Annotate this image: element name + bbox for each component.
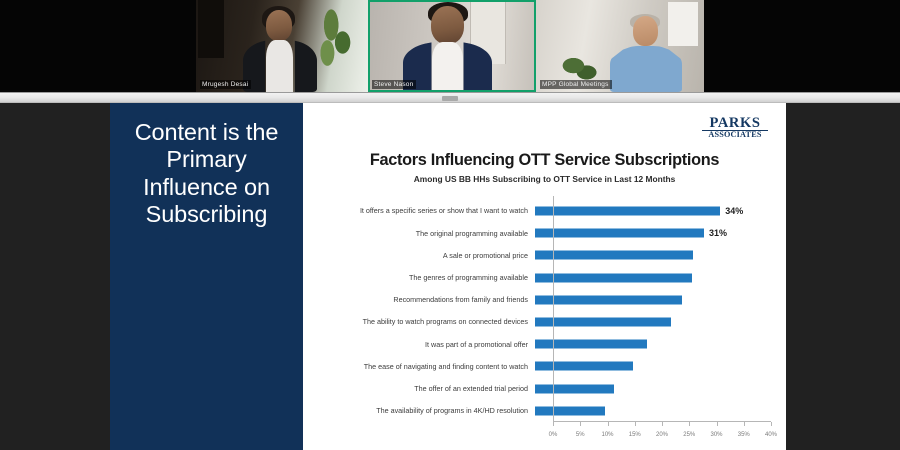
x-tick-label: 30% (710, 432, 722, 438)
decor-plant (316, 4, 354, 74)
participant-name-label: Mrugesh Desai (200, 80, 251, 89)
bar (535, 207, 720, 216)
bar (535, 318, 671, 327)
presentation-area: Content is the Primary Influence on Subs… (0, 103, 900, 450)
category-label: The genres of programming available (321, 273, 535, 283)
slide: Content is the Primary Influence on Subs… (110, 103, 786, 450)
x-tick-label: 15% (629, 432, 641, 438)
x-tick (608, 422, 609, 426)
bar (535, 362, 633, 371)
video-background-1 (196, 0, 368, 92)
chart-row: It was part of a promotional offer (321, 333, 771, 355)
x-tick (662, 422, 663, 426)
logo-line-1: PARKS (702, 116, 768, 130)
category-label: A sale or promotional price (321, 251, 535, 261)
bar-track: 34% (535, 200, 771, 222)
decor-window (668, 2, 698, 46)
video-tile-participant-1[interactable]: Mrugesh Desai (196, 0, 368, 92)
chart-title: Factors Influencing OTT Service Subscrip… (303, 151, 786, 170)
video-background-3 (536, 0, 704, 92)
parks-associates-logo: PARKS ASSOCIATES (702, 116, 768, 139)
chart-row: Recommendations from family and friends (321, 289, 771, 311)
x-tick (580, 422, 581, 426)
person-head-3 (633, 16, 658, 46)
decor-doorframe (198, 0, 224, 58)
participant-name-label: Steve Nason (372, 80, 416, 89)
category-label: The availability of programs in 4K/HD re… (321, 406, 535, 416)
video-conference-strip: Mrugesh Desai Steve Nason MPP Global Mee… (0, 0, 900, 92)
x-tick (717, 422, 718, 426)
chart-subtitle: Among US BB HHs Subscribing to OTT Servi… (303, 174, 786, 184)
person-head-2 (431, 6, 464, 44)
person-shirt-1 (266, 40, 293, 92)
bar (535, 406, 605, 415)
bar-value-label: 31% (709, 228, 727, 238)
bar-chart: It offers a specific series or show that… (321, 196, 771, 442)
slide-title-panel: Content is the Primary Influence on Subs… (110, 103, 303, 450)
category-label: It was part of a promotional offer (321, 340, 535, 350)
category-label: The offer of an extended trial period (321, 384, 535, 394)
x-tick-label: 35% (738, 432, 750, 438)
bar-track (535, 267, 771, 289)
x-tick-label: 5% (576, 432, 585, 438)
x-tick-label: 40% (765, 432, 777, 438)
chart-row: The ease of navigating and finding conte… (321, 355, 771, 377)
chart-row: The availability of programs in 4K/HD re… (321, 400, 771, 422)
chart-row: It offers a specific series or show that… (321, 200, 771, 222)
logo-line-2: ASSOCIATES (702, 130, 768, 139)
category-label: The ease of navigating and finding conte… (321, 362, 535, 372)
video-background-2 (370, 2, 534, 90)
bar-value-label: 34% (725, 206, 743, 216)
x-tick (744, 422, 745, 426)
bar (535, 384, 614, 393)
bar-track (535, 311, 771, 333)
x-tick-label: 20% (656, 432, 668, 438)
category-label: The original programming available (321, 229, 535, 239)
x-tick-label: 25% (683, 432, 695, 438)
chart-row: The ability to watch programs on connect… (321, 311, 771, 333)
x-tick (635, 422, 636, 426)
x-tick (689, 422, 690, 426)
x-tick-label: 10% (601, 432, 613, 438)
chart-row: The genres of programming available (321, 267, 771, 289)
chart-row: The offer of an extended trial period (321, 378, 771, 400)
x-tick-label: 0% (549, 432, 558, 438)
chart-row: The original programming available31% (321, 222, 771, 244)
x-tick (553, 422, 554, 426)
person-body-3 (610, 46, 682, 92)
video-strip-filler-left (0, 0, 196, 92)
bar (535, 340, 647, 349)
bar (535, 251, 693, 260)
slide-heading: Content is the Primary Influence on Subs… (110, 103, 303, 229)
bar (535, 273, 692, 282)
person-shirt-2 (432, 42, 463, 92)
video-strip-filler-right (704, 0, 900, 92)
bar-track (535, 289, 771, 311)
bar-track (535, 333, 771, 355)
video-tile-participant-3[interactable]: MPP Global Meetings (536, 0, 704, 92)
category-label: The ability to watch programs on connect… (321, 317, 535, 327)
category-label: It offers a specific series or show that… (321, 206, 535, 216)
bar-track: 31% (535, 222, 771, 244)
bar (535, 229, 704, 238)
person-head-1 (266, 10, 292, 41)
slide-content-panel: PARKS ASSOCIATES Factors Influencing OTT… (303, 103, 786, 450)
category-label: Recommendations from family and friends (321, 295, 535, 305)
y-axis-line (553, 196, 554, 422)
chart-row: A sale or promotional price (321, 244, 771, 266)
video-tile-participant-2-active-speaker[interactable]: Steve Nason (368, 0, 536, 92)
x-tick (771, 422, 772, 426)
participant-name-label: MPP Global Meetings (540, 80, 612, 89)
bar-track (535, 355, 771, 377)
bar (535, 295, 682, 304)
bar-track (535, 378, 771, 400)
drag-handle-icon[interactable] (442, 96, 458, 101)
bar-track (535, 244, 771, 266)
bar-track (535, 400, 771, 422)
panel-splitter[interactable] (0, 92, 900, 103)
